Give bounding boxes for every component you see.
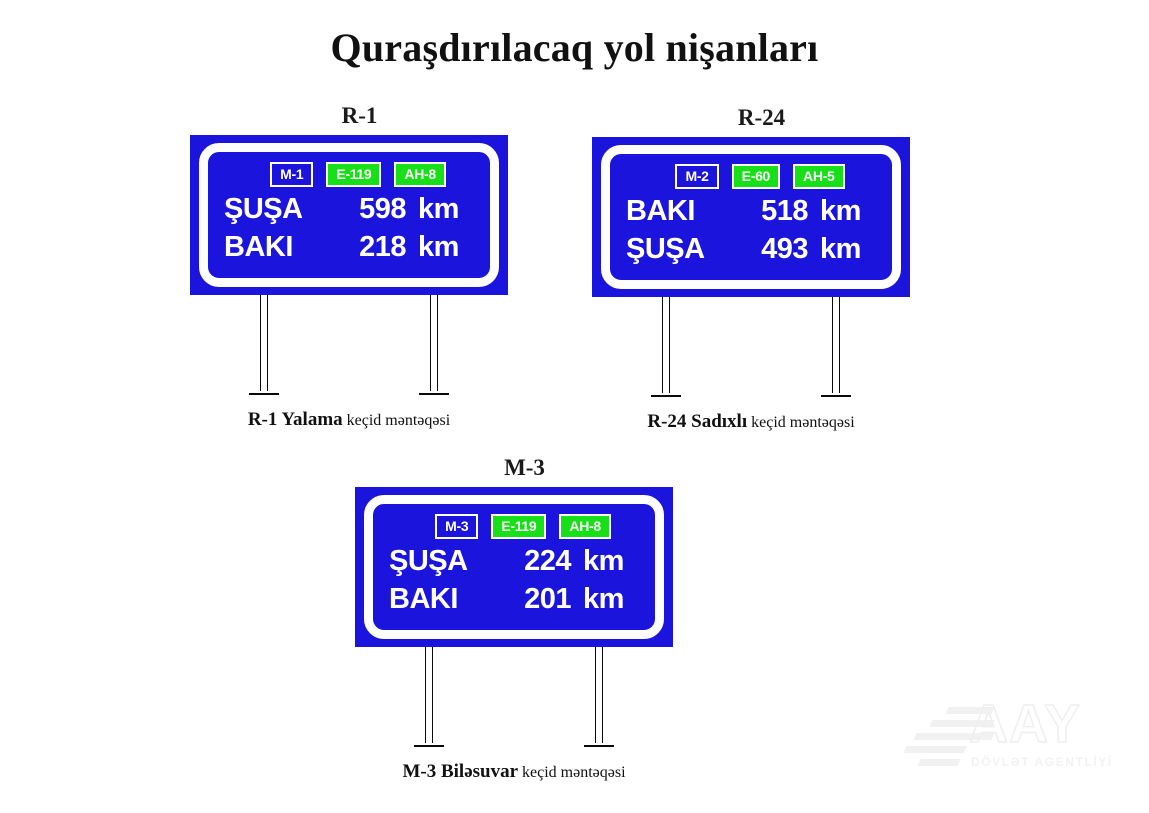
sign-code-label: M-3 bbox=[355, 455, 694, 481]
route-badge-asian: AH-8 bbox=[394, 162, 445, 187]
destination-name: ŞUŞA bbox=[389, 542, 521, 580]
caption-location: M-3 Biləsuvar bbox=[402, 761, 518, 782]
destination-row: BAKI 201 km bbox=[389, 580, 639, 618]
destination-row: ŞUŞA 224 km bbox=[389, 542, 639, 580]
destination-name: BAKI bbox=[389, 580, 521, 618]
destination-list: ŞUŞA 598 km BAKI 218 km bbox=[224, 190, 474, 266]
sign-unit-r-24: R-24 M-2 E-60 AH-5 BAKI 518 km ŞUŞA bbox=[592, 105, 931, 433]
logo-subtitle: DÖVLƏT AGENTLİYİ bbox=[971, 755, 1113, 769]
sign-content: M-3 E-119 AH-8 ŞUŞA 224 km BAKI 201 km bbox=[373, 504, 655, 630]
post-base-right bbox=[419, 393, 449, 395]
destination-distance: 518 bbox=[758, 192, 820, 230]
destination-row: ŞUŞA 598 km bbox=[224, 190, 474, 228]
destination-distance: 224 bbox=[521, 542, 583, 580]
destination-unit: km bbox=[820, 230, 876, 268]
caption-location: R-1 Yalama bbox=[248, 409, 343, 430]
post-base-right bbox=[584, 745, 614, 747]
road-sign-plate: M-3 E-119 AH-8 ŞUŞA 224 km BAKI 201 km bbox=[355, 487, 673, 647]
speed-line bbox=[930, 720, 995, 727]
route-badge-national: M-2 bbox=[675, 164, 718, 189]
destination-distance: 493 bbox=[758, 230, 820, 268]
caption-description: keçid məntəqəsi bbox=[347, 412, 451, 429]
destination-row: ŞUŞA 493 km bbox=[626, 230, 876, 268]
route-badge-row: M-3 E-119 AH-8 bbox=[389, 513, 639, 539]
sign-code-label: R-1 bbox=[190, 103, 529, 129]
post-base-left bbox=[651, 395, 681, 397]
caption-location: R-24 Sadıxlı bbox=[647, 411, 747, 432]
support-post-left bbox=[662, 297, 670, 393]
sign-support-posts bbox=[355, 647, 673, 747]
route-badge-asian: AH-8 bbox=[559, 514, 610, 539]
sign-white-frame: M-2 E-60 AH-5 BAKI 518 km ŞUŞA 493 km bbox=[601, 145, 901, 289]
route-badge-european: E-119 bbox=[491, 514, 546, 539]
route-badge-row: M-2 E-60 AH-5 bbox=[626, 163, 876, 189]
sign-unit-r-1: R-1 M-1 E-119 AH-8 ŞUŞA 598 km BAKI bbox=[190, 103, 529, 431]
speed-line bbox=[918, 759, 961, 766]
sign-white-frame: M-1 E-119 AH-8 ŞUŞA 598 km BAKI 218 km bbox=[199, 143, 499, 287]
support-post-right bbox=[430, 295, 438, 391]
destination-unit: km bbox=[418, 228, 474, 266]
route-badge-european: E-60 bbox=[732, 164, 780, 189]
sign-content: M-1 E-119 AH-8 ŞUŞA 598 km BAKI 218 km bbox=[208, 152, 490, 278]
destination-unit: km bbox=[583, 580, 639, 618]
support-post-right bbox=[595, 647, 603, 743]
speed-line bbox=[946, 707, 995, 714]
post-base-right bbox=[821, 395, 851, 397]
sign-support-posts bbox=[592, 297, 910, 397]
destination-list: BAKI 518 km ŞUŞA 493 km bbox=[626, 192, 876, 268]
sign-support-posts bbox=[190, 295, 508, 395]
post-base-left bbox=[249, 393, 279, 395]
page-title: Quraşdırılacaq yol nişanları bbox=[0, 24, 1149, 71]
route-badge-european: E-119 bbox=[326, 162, 381, 187]
road-sign-plate: M-1 E-119 AH-8 ŞUŞA 598 km BAKI 218 km bbox=[190, 135, 508, 295]
sign-unit-m-3: M-3 M-3 E-119 AH-8 ŞUŞA 224 km BAKI bbox=[355, 455, 694, 783]
destination-name: ŞUŞA bbox=[626, 230, 758, 268]
destination-row: BAKI 518 km bbox=[626, 192, 876, 230]
support-post-left bbox=[425, 647, 433, 743]
caption-description: keçid məntəqəsi bbox=[522, 764, 626, 781]
destination-name: BAKI bbox=[626, 192, 758, 230]
route-badge-national: M-3 bbox=[435, 514, 478, 539]
caption-description: keçid məntəqəsi bbox=[751, 414, 855, 431]
speed-line bbox=[914, 733, 995, 740]
sign-caption: M-3 Biləsuvar keçid məntəqəsi bbox=[334, 761, 694, 783]
route-badge-asian: AH-5 bbox=[793, 164, 844, 189]
destination-unit: km bbox=[820, 192, 876, 230]
support-post-left bbox=[260, 295, 268, 391]
logo-text: AAY bbox=[969, 697, 1081, 751]
route-badge-row: M-1 E-119 AH-8 bbox=[224, 161, 474, 187]
post-base-left bbox=[414, 745, 444, 747]
speed-lines-icon bbox=[905, 703, 1000, 765]
destination-distance: 201 bbox=[521, 580, 583, 618]
speed-line bbox=[904, 746, 967, 753]
destination-name: ŞUŞA bbox=[224, 190, 356, 228]
sign-caption: R-24 Sadıxlı keçid məntəqəsi bbox=[571, 411, 931, 433]
route-badge-national: M-1 bbox=[270, 162, 313, 187]
destination-list: ŞUŞA 224 km BAKI 201 km bbox=[389, 542, 639, 618]
destination-distance: 218 bbox=[356, 228, 418, 266]
aay-logo-watermark: AAY DÖVLƏT AGENTLİYİ bbox=[905, 695, 1135, 787]
sign-white-frame: M-3 E-119 AH-8 ŞUŞA 224 km BAKI 201 km bbox=[364, 495, 664, 639]
destination-row: BAKI 218 km bbox=[224, 228, 474, 266]
destination-name: BAKI bbox=[224, 228, 356, 266]
sign-content: M-2 E-60 AH-5 BAKI 518 km ŞUŞA 493 km bbox=[610, 154, 892, 280]
sign-caption: R-1 Yalama keçid məntəqəsi bbox=[169, 409, 529, 431]
destination-distance: 598 bbox=[356, 190, 418, 228]
sign-code-label: R-24 bbox=[592, 105, 931, 131]
road-sign-plate: M-2 E-60 AH-5 BAKI 518 km ŞUŞA 493 km bbox=[592, 137, 910, 297]
destination-unit: km bbox=[583, 542, 639, 580]
destination-unit: km bbox=[418, 190, 474, 228]
support-post-right bbox=[832, 297, 840, 393]
